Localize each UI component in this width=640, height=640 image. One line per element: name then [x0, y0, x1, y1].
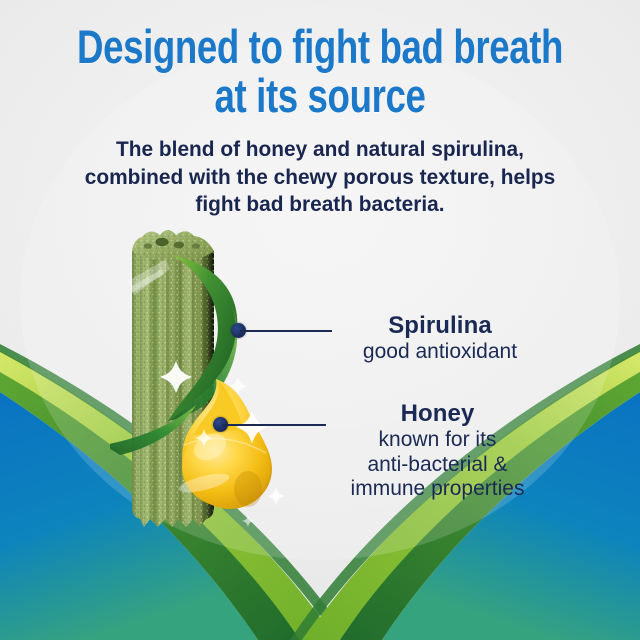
subtitle-text: The blend of honey and natural spirulina…: [78, 136, 563, 219]
callout-spirulina-title: Spirulina: [300, 312, 580, 340]
callout-honey-title: Honey: [295, 400, 580, 428]
callout-honey: Honey known for its anti-bacterial & imm…: [295, 400, 580, 502]
callout-spirulina-description: good antioxidant: [300, 340, 580, 365]
page-title: Designed to fight bad breath at its sour…: [70, 22, 569, 120]
dental-chew-stick-illustration: [110, 215, 320, 545]
callout-honey-description: known for its anti-bacterial & immune pr…: [295, 428, 580, 502]
chew-stick-top: [132, 230, 214, 261]
callout-spirulina: Spirulina good antioxidant: [300, 312, 580, 365]
product-feature-graphic: Designed to fight bad breath at its sour…: [0, 0, 640, 640]
